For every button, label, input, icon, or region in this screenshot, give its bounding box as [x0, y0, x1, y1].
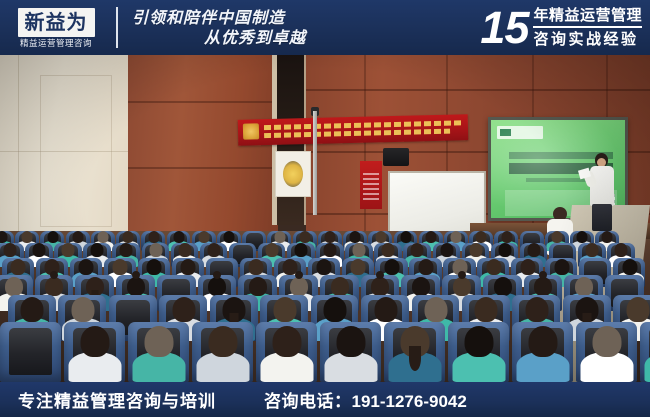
attendee-head	[71, 297, 94, 322]
attendee-head	[469, 243, 482, 257]
attendee-head	[371, 277, 389, 296]
attendee-hair-bun	[50, 271, 58, 279]
attendee-head	[224, 231, 235, 243]
attendee-head	[316, 259, 331, 275]
attendee-head	[209, 326, 238, 357]
footer-tagline: 专注精益管理咨询与培训	[18, 387, 216, 412]
attendee-head	[554, 259, 569, 275]
attendee-head	[375, 231, 386, 243]
experience-years-text: 年精益运营管理 咨询实战经验	[533, 6, 642, 49]
attendee-head	[586, 243, 599, 257]
logo-mark-text: 新益为	[18, 8, 95, 37]
attendee	[135, 327, 184, 382]
attendee	[519, 327, 568, 382]
attendee-head	[411, 243, 424, 257]
attendee-head	[615, 243, 628, 257]
attendee-hair-bun	[539, 271, 547, 279]
attendee	[327, 327, 376, 382]
attendee-head	[331, 277, 349, 296]
attendee-head	[527, 243, 540, 257]
attendee-head	[324, 297, 347, 322]
footer-phone-number[interactable]: 191-1276-9042	[352, 392, 467, 411]
attendee-head	[62, 243, 75, 257]
attendee-head	[324, 243, 337, 257]
attendee-head	[249, 277, 267, 296]
attendee	[199, 327, 248, 382]
attendee-head	[0, 231, 8, 243]
attendee-head	[249, 259, 264, 275]
attendee-head	[593, 326, 622, 357]
training-scene-photo	[0, 55, 650, 382]
attendee-head	[149, 243, 162, 257]
attendee-head	[622, 259, 637, 275]
slogan-line-1: 引领和陪伴中国制造	[132, 8, 390, 28]
attendee-ponytail	[409, 346, 421, 371]
attendee-head	[350, 259, 365, 275]
attendee-hair-bun	[295, 271, 303, 279]
attendee-head	[274, 231, 285, 243]
attendee-head	[91, 243, 104, 257]
attendee-head	[424, 297, 447, 322]
experience-years-number: 15	[480, 9, 528, 47]
attendee-head	[602, 231, 613, 243]
attendee-head	[4, 243, 17, 257]
attendee-head	[198, 231, 209, 243]
attendee-head	[33, 243, 46, 257]
attendee-head	[147, 259, 162, 275]
attendee-head	[208, 277, 226, 296]
attendee-head	[81, 326, 110, 357]
attendee-head	[501, 231, 512, 243]
footer-contact: 咨询电话：191-1276-9042	[264, 387, 467, 412]
attendee-head	[172, 297, 195, 322]
attendee-head	[534, 277, 552, 296]
attendee-head	[475, 297, 498, 322]
attendee-head	[127, 277, 145, 296]
attendee-head	[384, 259, 399, 275]
attendee-head	[486, 259, 501, 275]
attendee-hair-bun	[213, 271, 221, 279]
attendee-head	[465, 326, 494, 357]
slogan-line-2: 从优秀到卓越	[132, 28, 390, 48]
attendee-head	[290, 277, 308, 296]
promotional-banner: 新益为 精益运营管理咨询 引领和陪伴中国制造 从优秀到卓越 15 年精益运营管理…	[0, 0, 650, 417]
attendee-head	[45, 277, 63, 296]
audience-seating	[0, 55, 650, 382]
audience-row	[0, 322, 650, 382]
attendee-head	[178, 243, 191, 257]
attendee-head	[72, 231, 83, 243]
attendee-head	[350, 231, 361, 243]
attendee-head	[325, 231, 336, 243]
attendee-head	[98, 231, 109, 243]
attendee-hair-bun	[376, 271, 384, 279]
attendee	[583, 327, 632, 382]
attendee-head	[181, 259, 196, 275]
attendee-head	[520, 259, 535, 275]
attendee-head	[5, 277, 23, 296]
attendee-head	[113, 259, 128, 275]
attendee-head	[374, 297, 397, 322]
attendee-head	[265, 243, 278, 257]
attendee-head	[207, 243, 220, 257]
footer-bar: 专注精益管理咨询与培训 咨询电话：191-1276-9042	[0, 382, 650, 417]
attendee-head	[382, 243, 395, 257]
attendee-head	[476, 231, 487, 243]
attendee	[263, 327, 312, 382]
attendee-head	[299, 231, 310, 243]
logo-subtitle-text: 精益运营管理咨询	[20, 40, 92, 49]
attendee-head	[120, 243, 133, 257]
attendee-head	[575, 277, 593, 296]
attendee-head	[123, 231, 134, 243]
attendee-head	[145, 326, 174, 357]
attendee-hair-bun	[458, 271, 466, 279]
attendee-head	[552, 231, 563, 243]
attendee-head	[525, 297, 548, 322]
attendee-head	[498, 243, 511, 257]
attendee	[391, 327, 440, 382]
auditorium-seat	[0, 322, 61, 382]
attendee-head	[418, 259, 433, 275]
attendee-head	[21, 297, 44, 322]
attendee-head	[494, 277, 512, 296]
header-bar: 新益为 精益运营管理咨询 引领和陪伴中国制造 从优秀到卓越 15 年精益运营管理…	[0, 0, 650, 55]
attendee-head	[11, 259, 26, 275]
attendee-head	[337, 326, 366, 357]
attendee-head	[273, 297, 296, 322]
header-slogan: 引领和陪伴中国制造 从优秀到卓越	[118, 0, 390, 55]
attendee-head	[412, 277, 430, 296]
attendee-head	[173, 231, 184, 243]
attendee-head	[626, 297, 649, 322]
attendee-head	[400, 231, 411, 243]
attendee-head	[295, 243, 308, 257]
attendee-head	[529, 326, 558, 357]
footer-phone-label: 咨询电话：	[264, 392, 352, 412]
attendee-hair-bun	[132, 271, 140, 279]
attendee-head	[577, 231, 588, 243]
attendee-head	[353, 243, 366, 257]
company-logo[interactable]: 新益为 精益运营管理咨询	[0, 0, 112, 55]
attendee-head	[453, 277, 471, 296]
experience-badge: 15 年精益运营管理 咨询实战经验	[390, 0, 650, 55]
attendee-head	[79, 259, 94, 275]
attendee-head	[47, 231, 58, 243]
attendee	[455, 327, 504, 382]
attendee-head	[22, 231, 33, 243]
experience-line-1: 年精益运营管理	[533, 6, 642, 28]
experience-line-2: 咨询实战经验	[533, 28, 642, 49]
attendee-head	[148, 231, 159, 243]
attendee-head	[440, 243, 453, 257]
attendee-head	[425, 231, 436, 243]
attendee	[71, 327, 120, 382]
attendee-head	[451, 231, 462, 243]
attendee-head	[273, 326, 302, 357]
